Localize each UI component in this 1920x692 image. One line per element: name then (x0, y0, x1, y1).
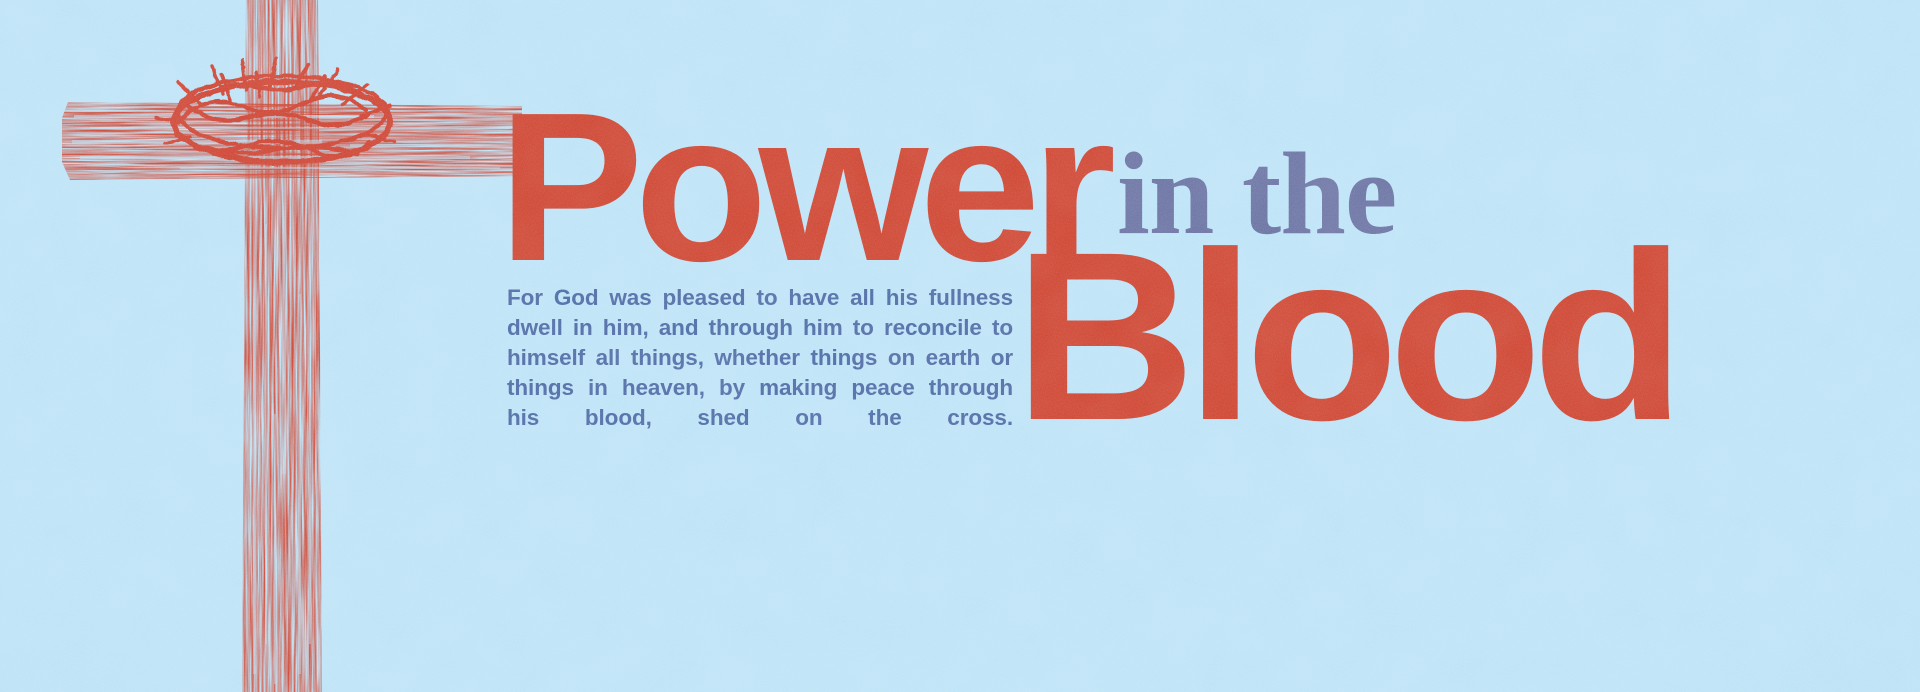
verse-line: For God was pleased to have all his full… (507, 283, 1013, 313)
verse-line: his blood, shed on the cross. (507, 403, 1013, 433)
verse-line: things in heaven, by making peace throug… (507, 373, 1013, 403)
verse-line: himself all things, whether things on ea… (507, 343, 1013, 373)
verse-line: dwell in him, and through him to reconci… (507, 313, 1013, 343)
headline-word-blood: Blood (1014, 243, 1675, 430)
cross-with-crown-of-thorns-illustration (60, 0, 530, 692)
verse-paragraph: For God was pleased to have all his full… (507, 283, 1013, 433)
banner-canvas: Power in the Blood For God was pleased t… (0, 0, 1920, 692)
